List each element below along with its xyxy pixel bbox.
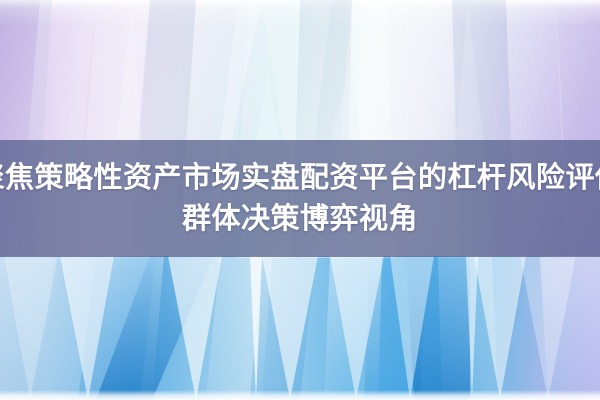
title-band: 聚焦策略性资产市场实盘配资平台的杠杆风险评估 群体决策博弈视角 xyxy=(0,140,600,257)
cover-banner: 聚焦策略性资产市场实盘配资平台的杠杆风险评估 群体决策博弈视角 xyxy=(0,0,600,400)
banner-title-line-1: 聚焦策略性资产市场实盘配资平台的杠杆风险评估 xyxy=(0,161,600,195)
banner-title-line-2: 群体决策博弈视角 xyxy=(182,202,418,236)
watermark xyxy=(282,380,318,394)
